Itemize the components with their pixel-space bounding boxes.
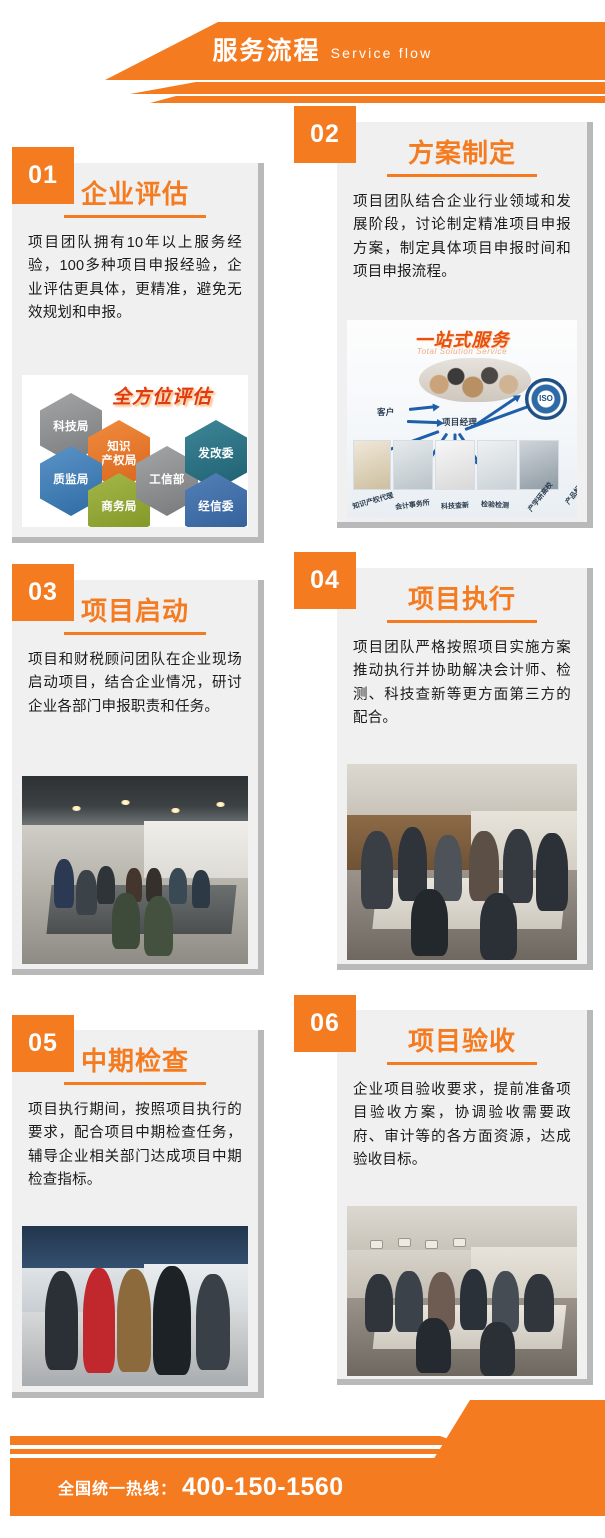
step-badge-01: 01	[12, 147, 74, 204]
card-03-body: 项目和财税顾问团队在企业现场启动项目，结合企业情况，研讨企业各部门申报职责和任务…	[12, 635, 258, 719]
photo-person-6	[536, 833, 568, 911]
photo-frame-4	[453, 1238, 466, 1247]
step-badge-03: 03	[12, 564, 74, 621]
hex-node-zhishichanquan-label: 知识 产权局	[101, 441, 136, 468]
photo-person-3	[117, 1269, 151, 1371]
card-02-media-one-stop-diagram: 一站式服务 Total Solution Service 客户 项目经理	[347, 320, 577, 518]
one-stop-label-standard: 产品标准信息	[563, 467, 577, 506]
photo-display-screen	[22, 1226, 248, 1268]
photo-person-7	[192, 870, 210, 908]
one-stop-service-diagram: 一站式服务 Total Solution Service 客户 项目经理	[347, 320, 577, 518]
card-04-media-photo	[347, 764, 577, 960]
one-stop-label-testing: 检验检测	[481, 499, 509, 510]
photo-conference-table	[347, 764, 577, 960]
card-05-media-photo	[22, 1226, 248, 1386]
photo-person-5	[196, 1274, 230, 1370]
card-04-body: 项目团队严格按照项目实施方案推动执行并协助解决会计师、检测、科技查新等更方面第三…	[337, 623, 587, 731]
card-06-title: 项目验收	[351, 1028, 573, 1054]
card-06-media-photo	[347, 1206, 577, 1376]
photo-frame-1	[370, 1240, 383, 1249]
photo-person-7	[416, 1318, 451, 1372]
photo-person-2	[395, 1271, 423, 1332]
step-card-01: 企业评估 项目团队拥有10年以上服务经验，100多种项目申报经验，企业评估更具体…	[12, 163, 264, 543]
card-06-title-row: 项目验收	[337, 1010, 587, 1065]
step-badge-02: 02	[294, 106, 356, 163]
card-04-title: 项目执行	[351, 586, 573, 612]
card-02-title: 方案制定	[351, 140, 573, 166]
photo-person-6	[524, 1274, 554, 1332]
photo-person-7	[411, 889, 448, 956]
footer-hotline-number[interactable]: 400-150-1560	[179, 1473, 344, 1502]
footer-hotline-label: 全国统一热线：	[58, 1475, 177, 1499]
photo-ceiling	[347, 764, 577, 815]
service-flow-poster: 服务流程 Service flow 企业评估 项目团队拥有10年以上服务经验，1…	[0, 0, 605, 1538]
one-stop-node-kehu: 客户	[377, 406, 395, 418]
card-02-title-row: 方案制定	[337, 122, 587, 177]
photo-person-8	[480, 893, 517, 960]
iso-seal-label: ISO	[526, 394, 566, 403]
iso-seal-icon: ISO	[525, 378, 567, 420]
one-stop-tile-1	[353, 440, 391, 490]
one-stop-tile-5	[519, 440, 559, 490]
photo-frame-2	[398, 1238, 411, 1247]
photo-person-8	[480, 1322, 515, 1376]
page-subtitle: Service flow	[331, 42, 433, 60]
photo-person-4	[469, 831, 499, 902]
hex-node-jingxinwei-label: 经信委	[198, 501, 233, 515]
photo-meeting-room	[22, 776, 248, 964]
header-stripe-thick	[0, 82, 605, 94]
one-stop-subtitle: Total Solution Service	[347, 347, 577, 356]
photo-person-6	[169, 868, 187, 904]
one-stop-tile-4	[477, 440, 517, 490]
card-06-body: 企业项目验收要求，提前准备项目验收方案，协调验收需要政府、审计等的各方面资源，达…	[337, 1065, 587, 1173]
step-badge-04: 04	[294, 552, 356, 609]
step-badge-05: 05	[12, 1015, 74, 1072]
step-badge-06: 06	[294, 995, 356, 1052]
photo-ceiling	[22, 776, 248, 825]
photo-person-1	[361, 831, 393, 909]
card-03-media-photo	[22, 776, 248, 964]
footer-hotline-group: 全国统一热线： 400-150-1560	[58, 1458, 344, 1516]
hex-node-keji-label: 科技局	[53, 421, 88, 435]
card-01-media-hexagon-diagram: 全方位评估 科技局 知识 产权局 质监局 商务局 工信部 发改委	[22, 375, 248, 527]
hex-node-shangwuju-label: 商务局	[101, 501, 136, 515]
page-footer: 全国统一热线： 400-150-1560	[0, 1400, 605, 1538]
hexagon-diagram-title: 全方位评估	[112, 382, 212, 409]
photo-person-1	[54, 859, 74, 908]
photo-light-1	[72, 806, 81, 811]
photo-exhibition	[22, 1226, 248, 1386]
photo-frame-3	[425, 1240, 438, 1249]
header-stripe-thin	[0, 96, 605, 103]
one-stop-label-accounting: 会计事务所	[394, 498, 430, 513]
photo-person-2	[83, 1268, 115, 1374]
one-stop-arrow-2	[407, 420, 439, 424]
hex-node-fagaiwei-label: 发改委	[198, 448, 233, 462]
step-card-04: 项目执行 项目团队严格按照项目实施方案推动执行并协助解决会计师、检测、科技查新等…	[337, 568, 593, 970]
step-card-06: 项目验收 企业项目验收要求，提前准备项目验收方案，协调验收需要政府、审计等的各方…	[337, 1010, 593, 1385]
card-04-title-row: 项目执行	[337, 568, 587, 623]
card-02-body: 项目团队结合企业行业领域和发展阶段，讨论制定精准项目申报方案，制定具体项目申报时…	[337, 177, 587, 285]
one-stop-tile-3	[435, 440, 475, 490]
photo-person-4	[153, 1266, 191, 1375]
page-title: 服务流程	[213, 39, 321, 64]
one-stop-label-novelty: 科技查新	[441, 500, 469, 511]
photo-person-5	[503, 829, 533, 903]
photo-person-3	[97, 866, 115, 904]
step-card-05: 中期检查 项目执行期间，按照项目执行的要求，配合项目中期检查任务，辅导企业相关部…	[12, 1030, 264, 1398]
hex-node-zhijianju-label: 质监局	[53, 474, 88, 488]
card-05-body: 项目执行期间，按照项目执行的要求，配合项目中期检查任务，辅导企业相关部门达成项目…	[12, 1085, 258, 1193]
header-title-group: 服务流程 Service flow	[0, 22, 605, 80]
photo-person-2	[76, 870, 96, 915]
photo-person-8	[112, 893, 139, 949]
one-stop-tile-2	[393, 440, 433, 490]
hexagon-diagram: 全方位评估 科技局 知识 产权局 质监局 商务局 工信部 发改委	[22, 375, 248, 527]
hex-node-gongxinbu-label: 工信部	[149, 474, 184, 488]
card-01-body: 项目团队拥有10年以上服务经验，100多种项目申报经验，企业评估更具体，更精准，…	[12, 218, 258, 326]
photo-person-1	[45, 1271, 79, 1370]
photo-person-1	[365, 1274, 393, 1332]
photo-person-9	[144, 896, 173, 956]
one-stop-label-ip: 知识产权代理	[351, 490, 394, 511]
photo-person-4	[460, 1269, 488, 1330]
step-card-02: 方案制定 项目团队结合企业行业领域和发展阶段，讨论制定精准项目申报方案，制定具体…	[337, 122, 593, 528]
one-stop-arrow-1	[409, 405, 435, 411]
step-card-03: 项目启动 项目和财税顾问团队在企业现场启动项目，结合企业情况，研讨企业各部门申报…	[12, 580, 264, 975]
photo-boardroom	[347, 1206, 577, 1376]
